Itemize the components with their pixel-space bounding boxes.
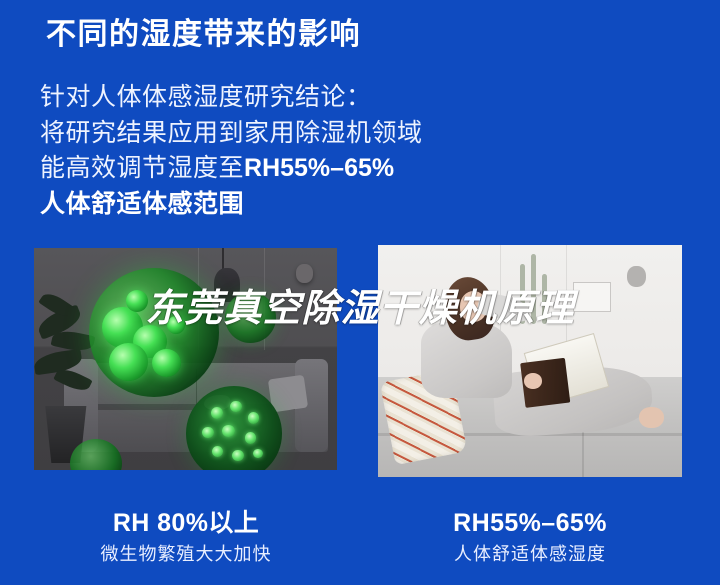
caption-title: RH 80%以上	[34, 508, 338, 538]
intro-line-2: 将研究结果应用到家用除湿机领域	[40, 116, 460, 152]
wall-picture-frame	[573, 282, 611, 312]
microbe-spore	[245, 432, 257, 443]
wall-knob-decor	[627, 266, 646, 287]
microbe-blob	[152, 349, 181, 377]
woman-foot	[639, 407, 663, 428]
intro-line-4: 人体舒适体感范围	[40, 187, 460, 223]
intro-paragraph: 针对人体体感湿度研究结论： 将研究结果应用到家用除湿机领域 能高效调节湿度至RH…	[40, 80, 460, 222]
pendant-lamp-cord	[222, 248, 224, 270]
caption-high-humidity: RH 80%以上 微生物繁殖大大加快	[34, 508, 338, 566]
microbe-sphere-large	[89, 268, 219, 397]
caption-comfort-humidity: RH55%–65% 人体舒适体感湿度	[378, 508, 682, 566]
intro-line-3: 能高效调节湿度至RH55%–65%	[40, 151, 460, 187]
woman-hand	[524, 373, 542, 389]
caption-subtitle: 人体舒适体感湿度	[378, 544, 682, 566]
microbe-spore	[222, 425, 235, 437]
microbe-spore	[211, 407, 224, 419]
microbe-spore	[253, 449, 263, 459]
caption-subtitle: 微生物繁殖大大加快	[34, 544, 338, 566]
microbe-spore	[212, 446, 224, 457]
photo-high-humidity-room	[34, 248, 337, 470]
cactus-stem	[542, 274, 547, 324]
page-title: 不同的湿度带来的影响	[46, 16, 361, 54]
wall-knob-decor	[296, 264, 313, 283]
microbe-spore	[232, 450, 244, 461]
intro-line-3-range: RH55%–65%	[244, 154, 394, 182]
photo-comfort-humidity-room	[378, 245, 682, 477]
humidity-infographic-poster: 不同的湿度带来的影响 针对人体体感湿度研究结论： 将研究结果应用到家用除湿机领域…	[0, 0, 720, 585]
microbe-blob	[167, 316, 185, 334]
microbe-spore	[248, 412, 260, 423]
microbe-spore	[230, 401, 242, 412]
intro-line-1: 针对人体体感湿度研究结论：	[40, 80, 460, 116]
microbe-spore	[202, 427, 214, 438]
microbe-blob	[109, 343, 148, 382]
caption-title: RH55%–65%	[378, 508, 682, 538]
microbe-blob	[126, 290, 148, 312]
intro-line-3-prefix: 能高效调节湿度至	[40, 154, 244, 182]
cactus-stem	[531, 254, 536, 324]
